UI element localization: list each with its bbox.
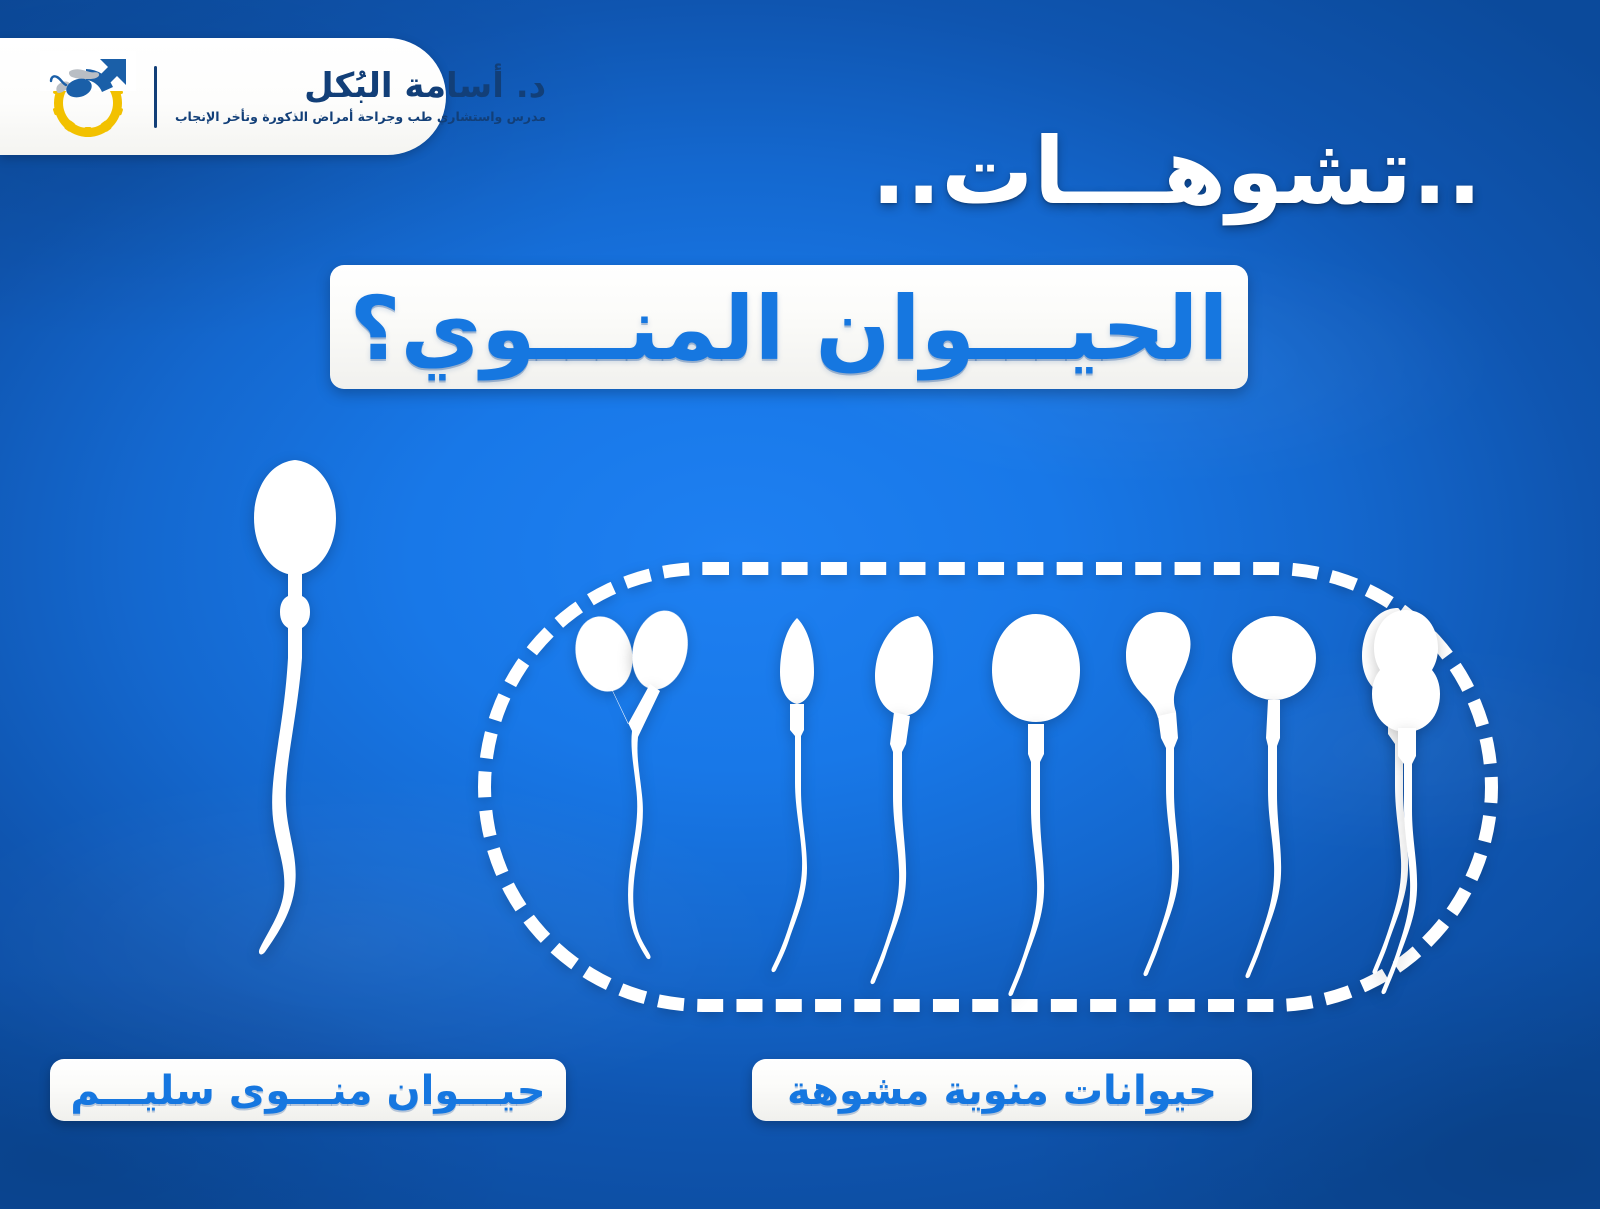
brand-text-block: د. أسامة البُكل مدرس واستشاري طب وجراحة … — [175, 69, 546, 124]
healthy-sperm-figure — [208, 452, 388, 1062]
caption-abnormal-sperm: حيوانات منوية مشوهة — [752, 1059, 1252, 1121]
male-symbol-sperm-gear-icon — [40, 51, 136, 143]
caption-healthy-sperm: حيـــوان منـــوى سليـــم — [50, 1059, 566, 1121]
doctor-subtitle: مدرس واستشاري طب وجراحة أمراض الذكورة وت… — [175, 109, 546, 124]
brand-logo-plate[interactable]: د. أسامة البُكل مدرس واستشاري طب وجراحة … — [0, 38, 446, 155]
caption-abnormal-text: حيوانات منوية مشوهة — [787, 1071, 1217, 1111]
headline-line-1: ..تشوهـــات.. — [871, 126, 1482, 218]
abnormal-sperm-dashed-zone — [478, 562, 1498, 1012]
logo-divider — [154, 66, 157, 128]
caption-healthy-text: حيـــوان منـــوى سليـــم — [70, 1071, 545, 1111]
infographic-poster: د. أسامة البُكل مدرس واستشاري طب وجراحة … — [0, 0, 1600, 1209]
headline-banner: الحيـــوان المنـــوي؟ — [330, 265, 1248, 389]
doctor-name: د. أسامة البُكل — [304, 69, 546, 104]
headline-line-2: الحيـــوان المنـــوي؟ — [349, 285, 1228, 373]
